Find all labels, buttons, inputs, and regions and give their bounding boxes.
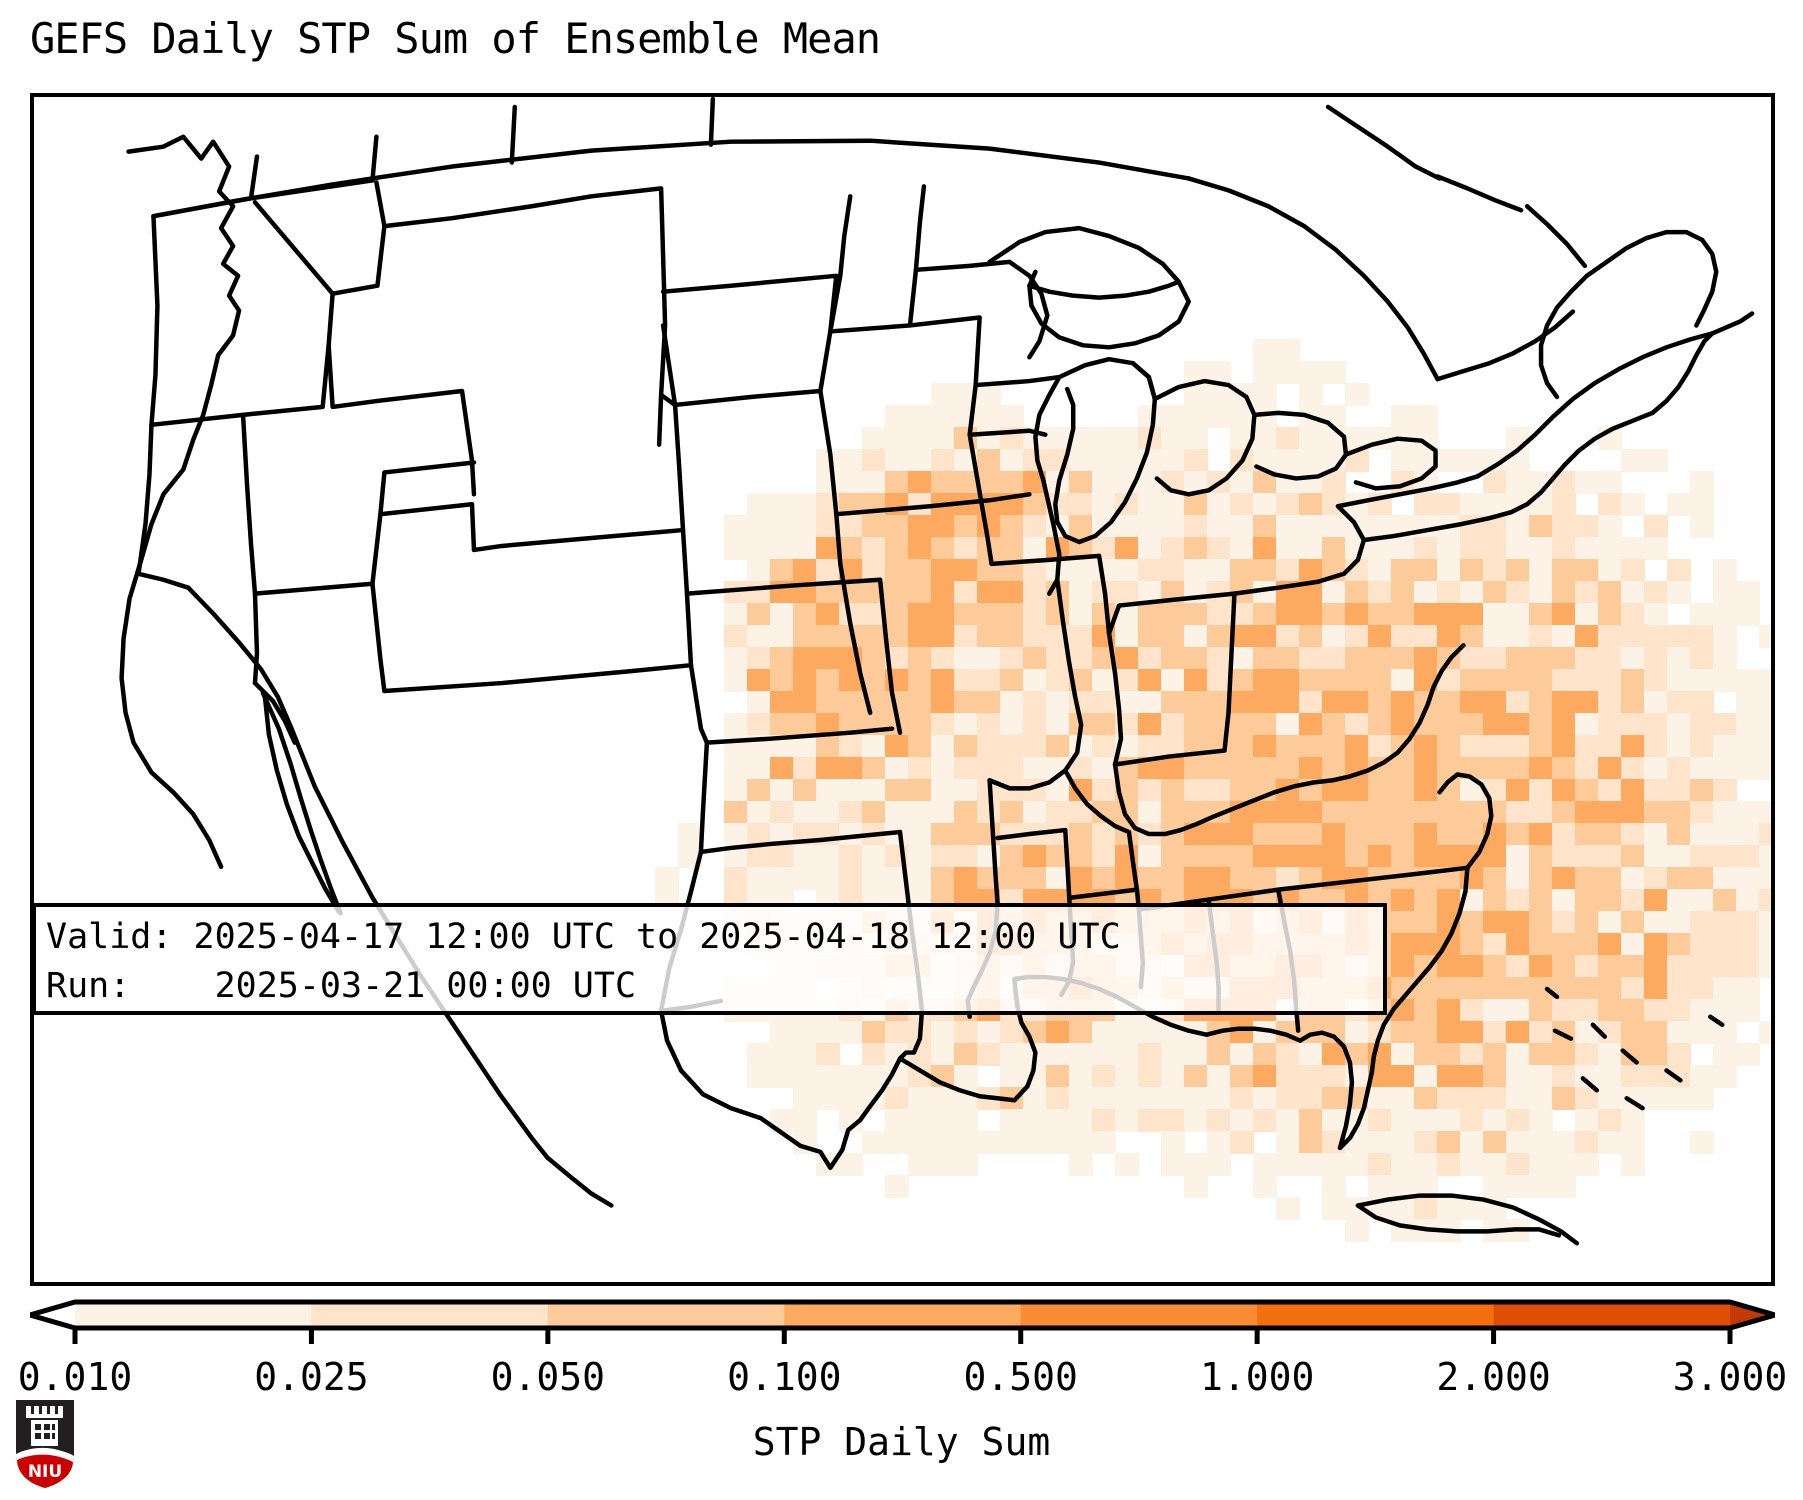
colorbar-tick-label: 0.100 xyxy=(727,1355,841,1399)
colorbar-band xyxy=(1021,1302,1258,1328)
colorbar-band xyxy=(1494,1302,1731,1328)
colorbar-band xyxy=(548,1302,785,1328)
colorbar-tick-label: 0.500 xyxy=(964,1355,1078,1399)
colorbar-tick-label: 0.050 xyxy=(491,1355,605,1399)
figure-root: GEFS Daily STP Sum of Ensemble Mean xyxy=(0,0,1803,1500)
colorbar-axis-label: STP Daily Sum xyxy=(0,1420,1803,1464)
colorbar-band xyxy=(1257,1302,1494,1328)
colorbar-tick-label: 1.000 xyxy=(1200,1355,1314,1399)
colorbar-tick-label: 0.025 xyxy=(254,1355,368,1399)
valid-time-text: Valid: 2025-04-17 12:00 UTC to 2025-04-1… xyxy=(46,913,1373,962)
colorbar-tick-label: 0.010 xyxy=(18,1355,132,1399)
colorbar[interactable] xyxy=(30,1296,1775,1356)
colorbar-band xyxy=(784,1302,1021,1328)
niu-logo: NIU xyxy=(14,1398,76,1490)
page-title: GEFS Daily STP Sum of Ensemble Mean xyxy=(30,14,880,63)
niu-logo-text: NIU xyxy=(28,1462,62,1482)
colorbar-band xyxy=(75,1302,312,1328)
colorbar-tick-label: 3.000 xyxy=(1673,1355,1787,1399)
map-panel[interactable] xyxy=(30,93,1775,1286)
valid-run-info-box: Valid: 2025-04-17 12:00 UTC to 2025-04-1… xyxy=(32,903,1387,1015)
colorbar-gradient xyxy=(30,1296,1775,1356)
colorbar-band xyxy=(311,1302,548,1328)
colorbar-tick-label: 2.000 xyxy=(1436,1355,1550,1399)
map-geography xyxy=(34,97,1771,1282)
run-time-text: Run: 2025-03-21 00:00 UTC xyxy=(46,962,1373,1011)
